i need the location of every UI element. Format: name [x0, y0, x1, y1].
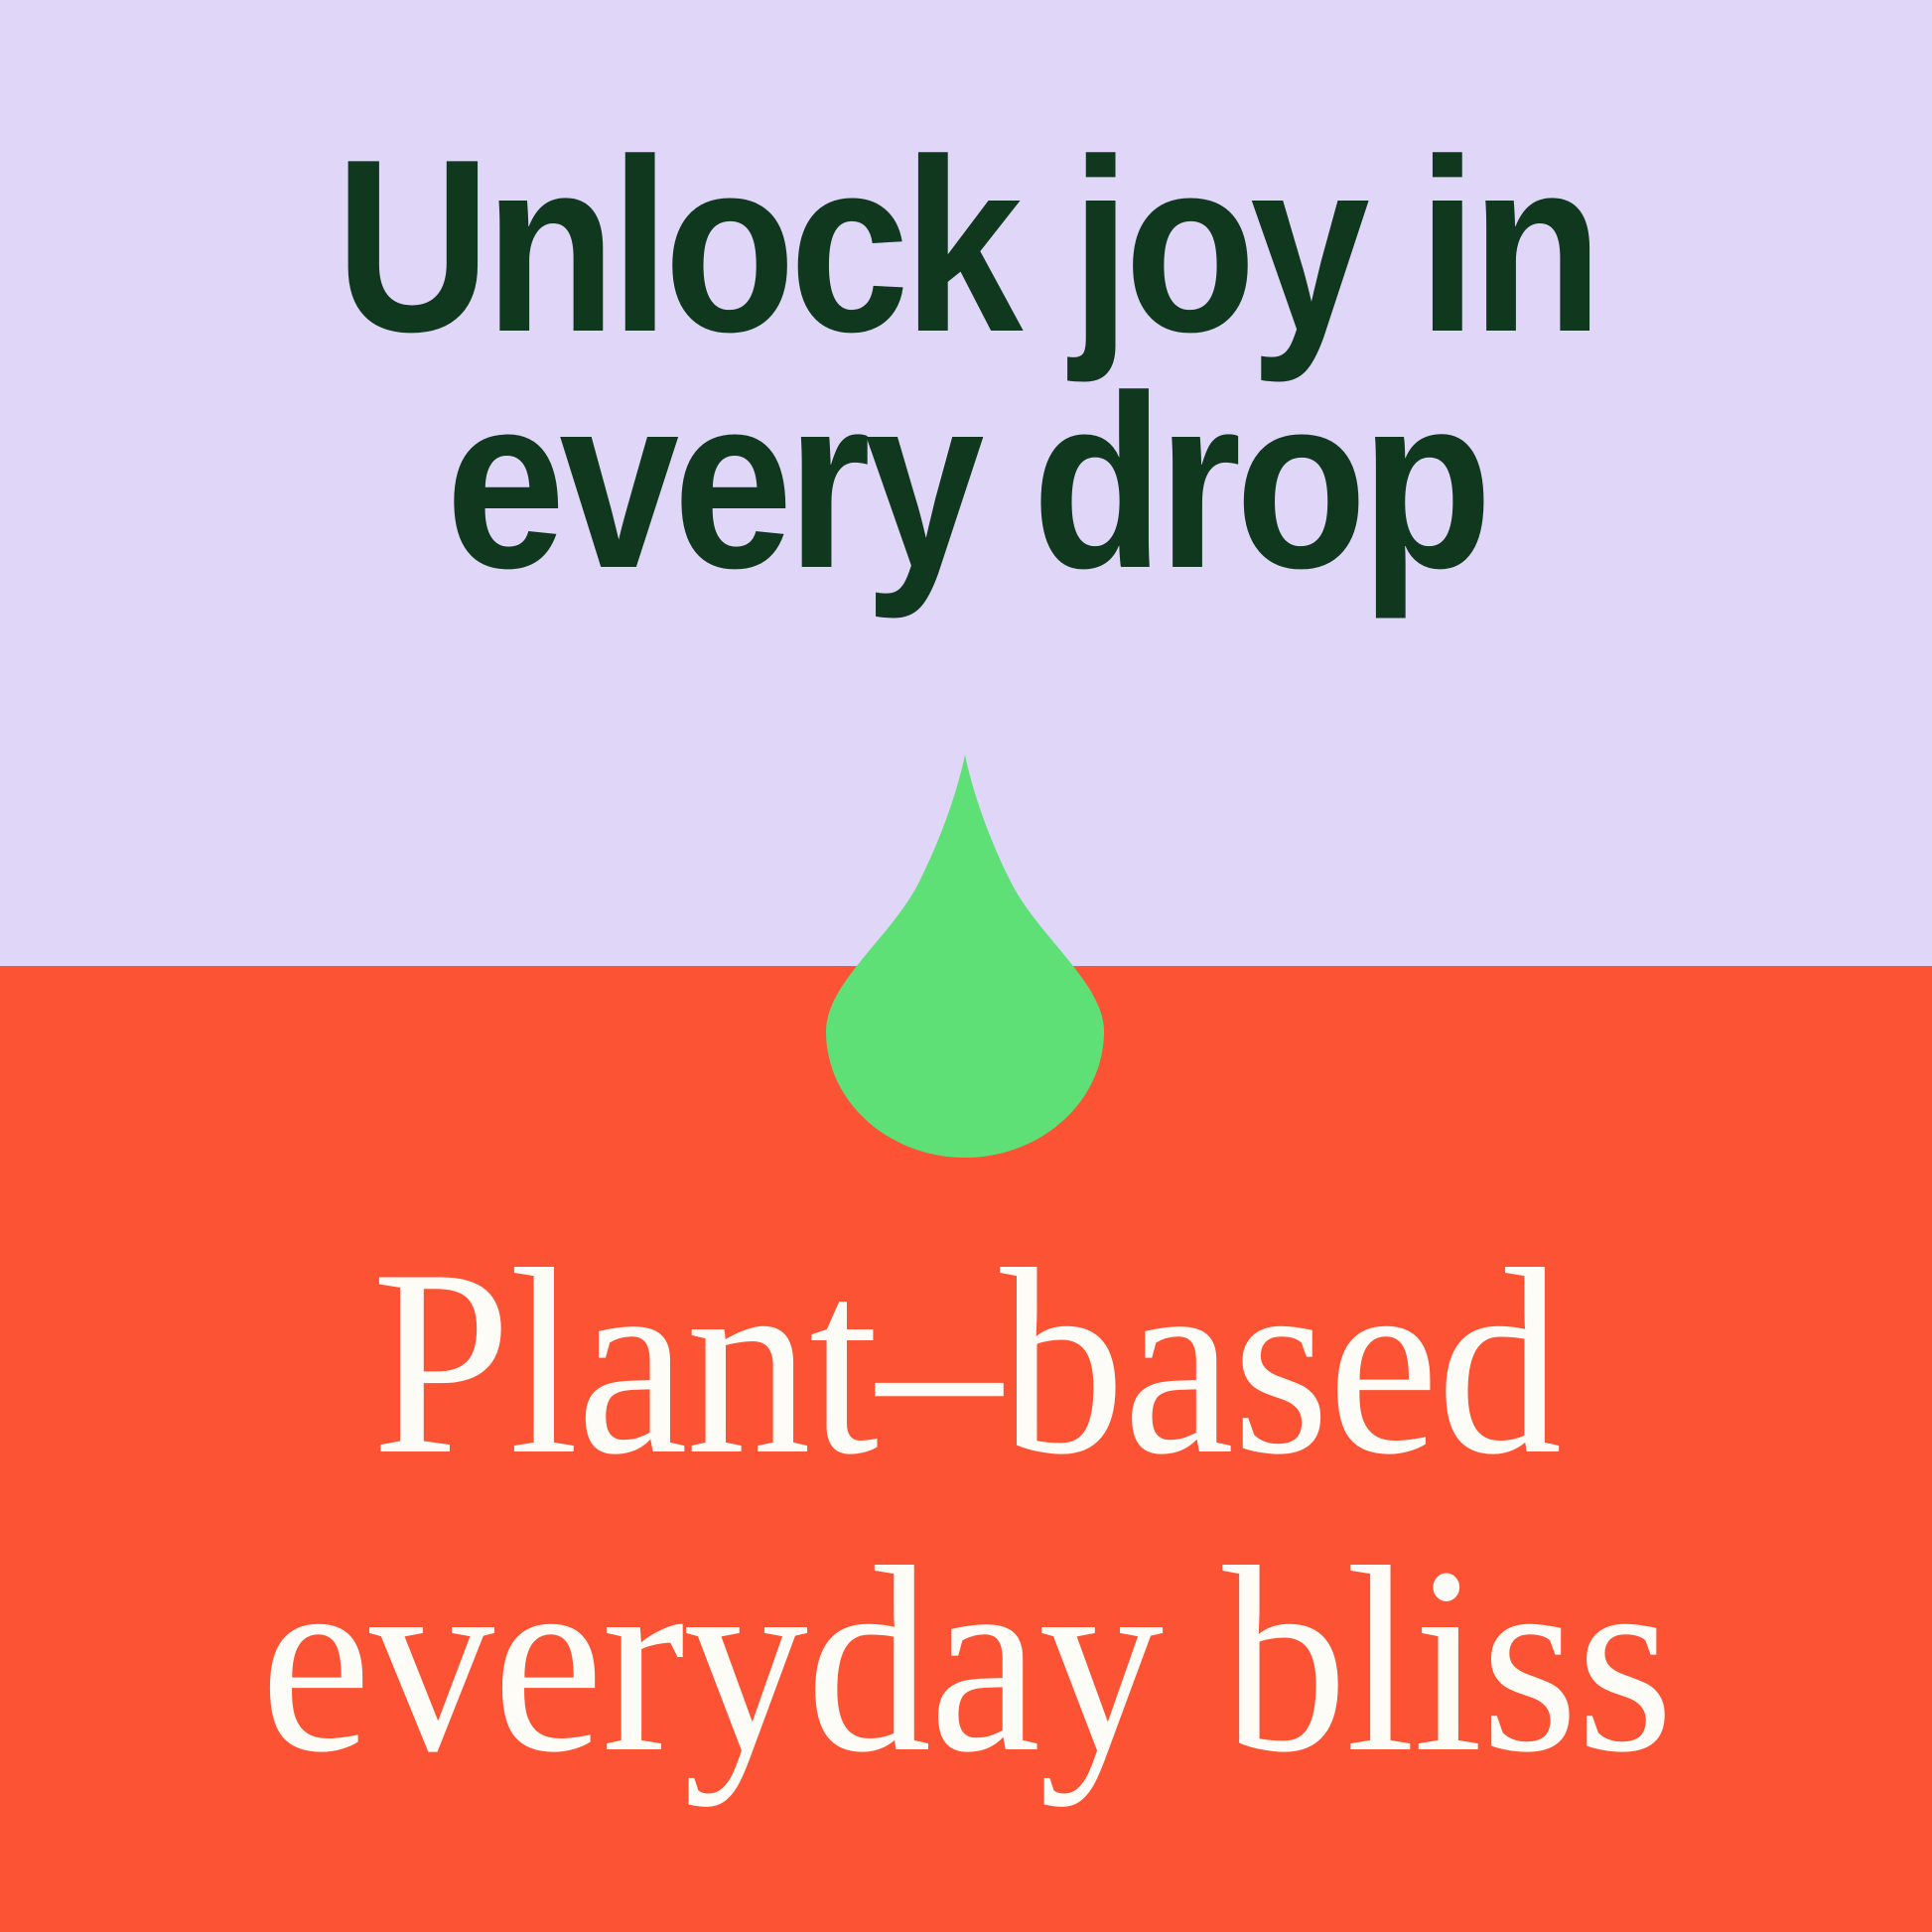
- poster-canvas: Unlock joy in every drop Plant–based eve…: [0, 0, 1932, 1932]
- water-drop-icon: [826, 755, 1104, 1158]
- headline: Unlock joy in every drop: [121, 0, 1812, 600]
- headline-line-2: every drop: [121, 363, 1812, 600]
- subhead-line-1: Plant–based: [58, 1213, 1873, 1511]
- subhead-line-2: everyday bliss: [58, 1511, 1873, 1809]
- subhead: Plant–based everyday bliss: [58, 1213, 1873, 1809]
- headline-line-1: Unlock joy in: [121, 127, 1812, 363]
